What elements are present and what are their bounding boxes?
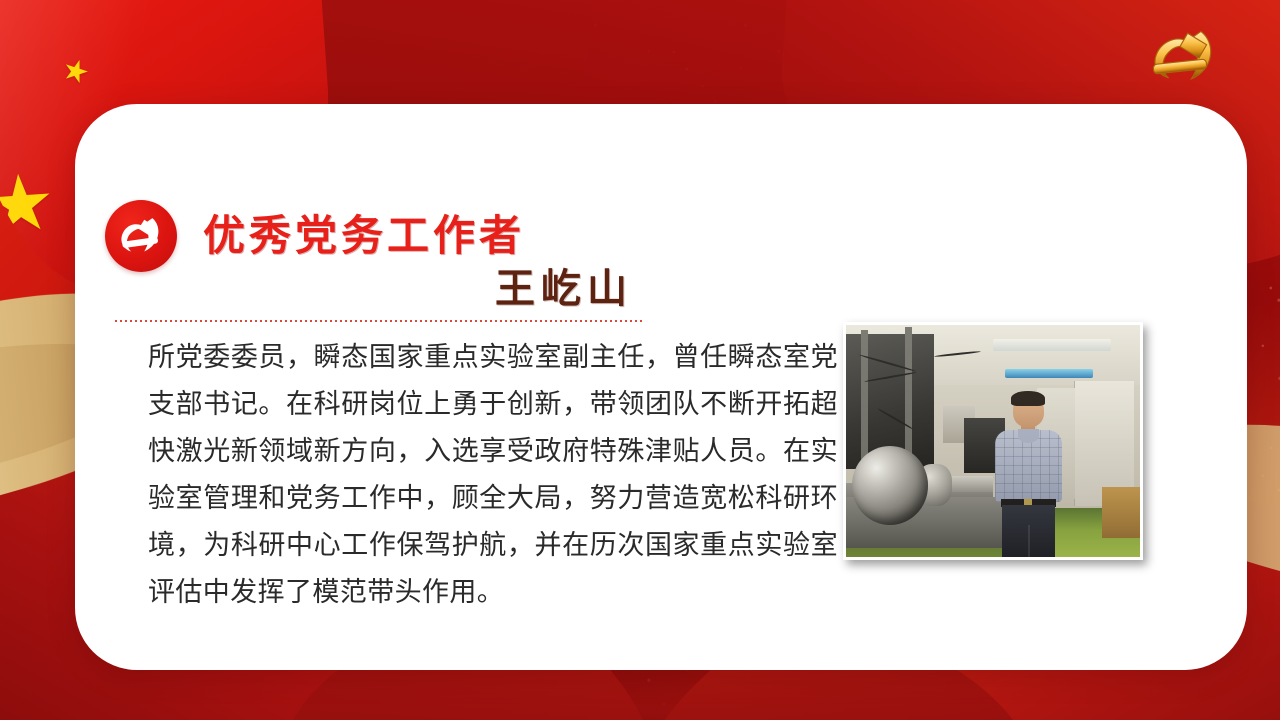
flag-star-small-1: ★ bbox=[58, 54, 93, 91]
photo-scene-lab bbox=[846, 325, 1140, 557]
content-card: 优秀党务工作者 王屹山 所党委委员，瞬态国家重点实验室副主任，曾任瞬态室党支部书… bbox=[75, 104, 1247, 670]
header-block: 优秀党务工作者 王屹山 bbox=[105, 200, 665, 308]
person-name: 王屹山 bbox=[203, 256, 633, 314]
hammer-sickle-gold-emblem bbox=[1132, 20, 1228, 96]
page-title: 优秀党务工作者 bbox=[203, 202, 525, 263]
photo-color-tint bbox=[846, 325, 1140, 557]
hammer-sickle-badge-icon bbox=[105, 200, 177, 272]
slide-root: ★ ★ ★ ★ ★ bbox=[0, 0, 1280, 720]
person-photo bbox=[843, 322, 1143, 560]
biography-paragraph: 所党委委员，瞬态国家重点实验室副主任，曾任瞬态室党支部书记。在科研岗位上勇于创新… bbox=[148, 334, 838, 616]
flag-star-large: ★ bbox=[0, 163, 58, 246]
dotted-divider bbox=[115, 320, 642, 322]
